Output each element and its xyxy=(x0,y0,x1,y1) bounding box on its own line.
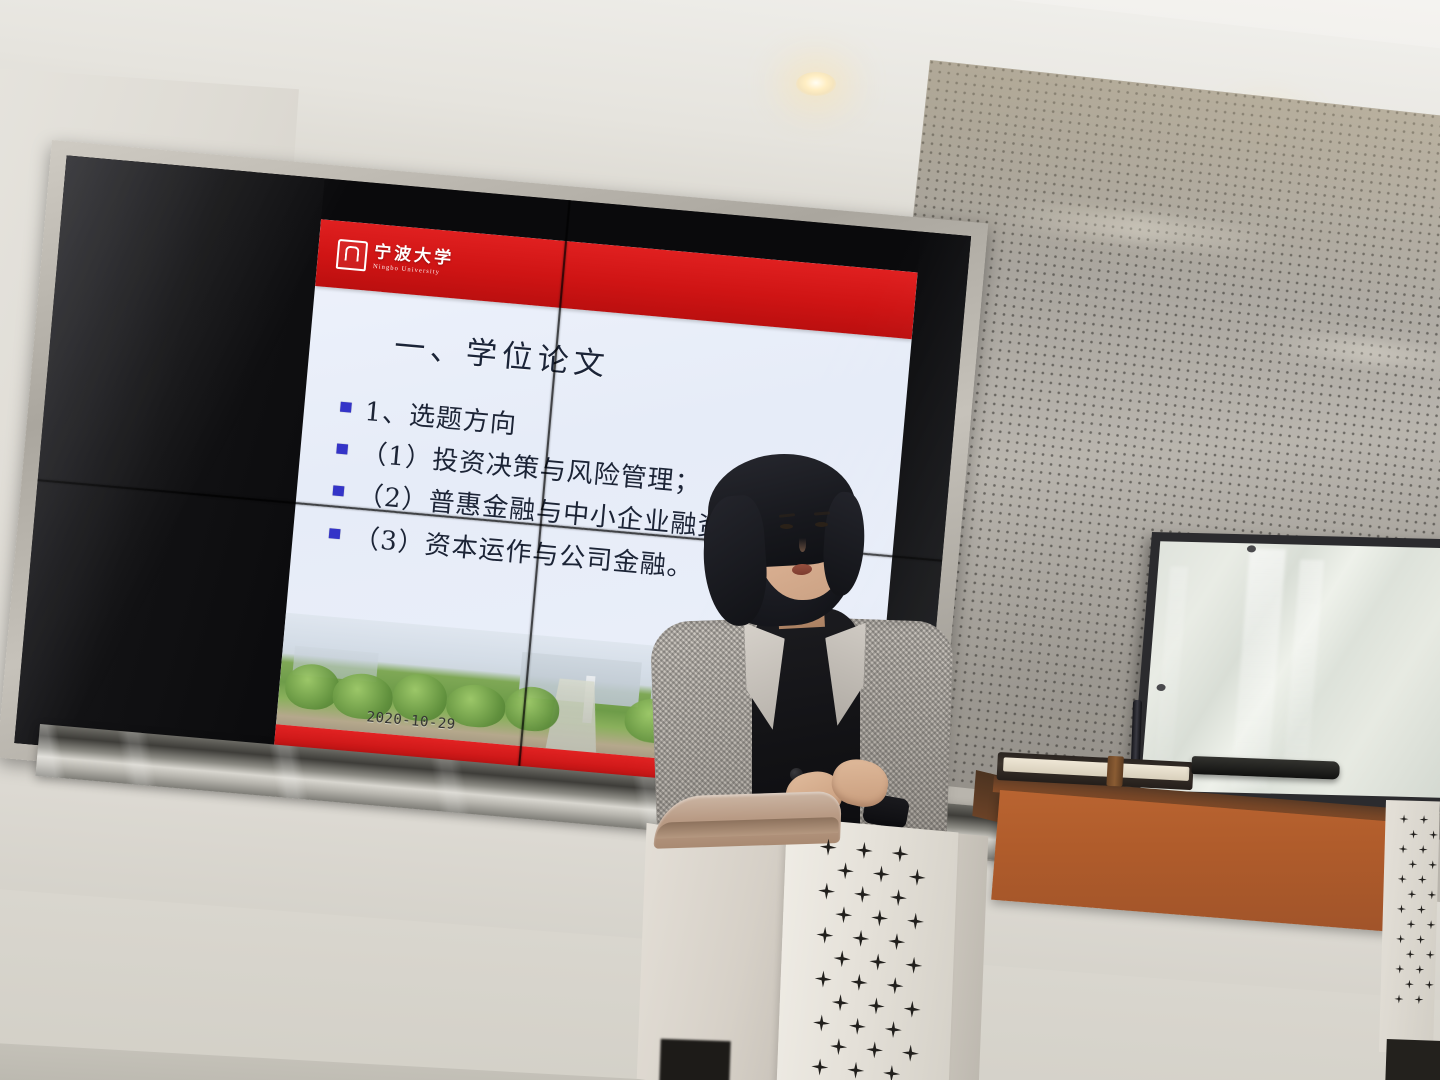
star-perforation-icon xyxy=(835,905,853,924)
star-perforation-icon xyxy=(871,909,889,928)
star-perforation-icon xyxy=(891,844,909,863)
university-gate-logo-icon xyxy=(336,239,369,272)
star-perforation-icon xyxy=(818,882,836,901)
star-perforation-icon xyxy=(908,868,926,887)
star-perforation-icon xyxy=(903,1000,921,1019)
lecture-hall-photo: 宁波大学 Ningbo University 一、学位论文 1、选题方向 （1 xyxy=(0,0,1440,1080)
bullet-square-icon xyxy=(328,528,340,539)
bullet-square-icon xyxy=(336,444,348,455)
star-perforation-icon xyxy=(832,993,850,1012)
star-perforation-icon xyxy=(850,973,868,992)
star-perforation-icon xyxy=(852,929,870,948)
star-perforation-icon xyxy=(905,956,923,975)
star-perforation-icon xyxy=(866,1041,884,1060)
star-perforation-icon xyxy=(830,1037,848,1056)
star-perforation-icon xyxy=(885,1020,903,1039)
notebook-strap xyxy=(1106,756,1124,787)
right-panel-base xyxy=(1385,1039,1440,1080)
star-perforation-icon xyxy=(814,970,832,989)
star-perforation-icon xyxy=(811,1058,829,1077)
eye-left xyxy=(780,524,793,529)
star-perforation-icon xyxy=(833,949,851,968)
star-perforation-icon xyxy=(890,888,908,907)
wall-star-pattern-panel xyxy=(1379,800,1440,1053)
star-perforation-icon xyxy=(847,1061,865,1080)
bullet-square-icon xyxy=(332,486,344,497)
star-perforation-icon xyxy=(886,976,904,995)
star-perforation-icon xyxy=(867,997,885,1016)
podium xyxy=(636,786,979,1080)
star-perforation-icon xyxy=(855,841,873,860)
bullet-text: 1、选题方向 xyxy=(363,391,518,441)
eye-right xyxy=(815,522,828,527)
star-perforation-icon xyxy=(854,885,872,904)
star-perforation-icon xyxy=(816,926,834,945)
star-perforation-icon xyxy=(849,1017,867,1036)
slide-title: 一、学位论文 xyxy=(344,316,885,409)
star-perforation-icon xyxy=(902,1044,920,1063)
star-perforation-icon xyxy=(883,1064,901,1080)
star-perforation-icon xyxy=(872,865,890,884)
whiteboard-reflection xyxy=(1231,548,1286,788)
university-logo-text: 宁波大学 Ningbo University xyxy=(373,244,455,278)
whiteboard-reflection xyxy=(1283,560,1325,780)
nose xyxy=(799,538,806,552)
star-perforation-icon xyxy=(813,1014,831,1033)
podium-base-shadow xyxy=(659,1039,730,1080)
photo-date-stamp: 2020-10-29 xyxy=(366,709,456,733)
star-perforation-icon xyxy=(819,838,837,857)
star-perforation-icon xyxy=(869,953,887,972)
podium-star-pattern-panel xyxy=(805,835,932,1080)
whiteboard-reflection xyxy=(1154,566,1188,766)
bullet-square-icon xyxy=(340,401,352,412)
hair-side-left xyxy=(700,494,771,628)
downlight-icon xyxy=(796,72,836,96)
star-perforation-icon xyxy=(907,912,925,931)
star-perforation-icon xyxy=(888,932,906,951)
letterbox-left xyxy=(14,155,324,766)
star-perforation-icon xyxy=(837,861,855,880)
